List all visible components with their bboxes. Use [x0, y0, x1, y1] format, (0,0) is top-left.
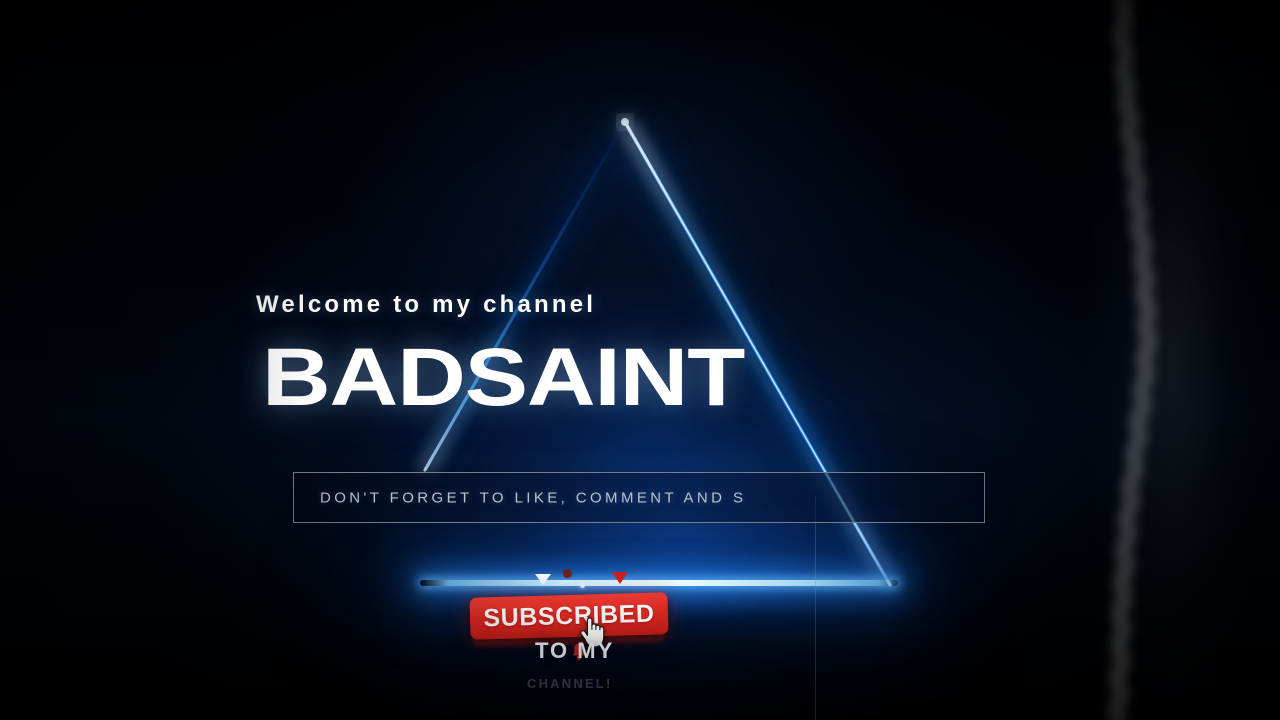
intro-scene: Welcome to my channel BADSAINT DON'T FOR…: [0, 0, 1280, 720]
vignette-overlay: [0, 0, 1280, 720]
